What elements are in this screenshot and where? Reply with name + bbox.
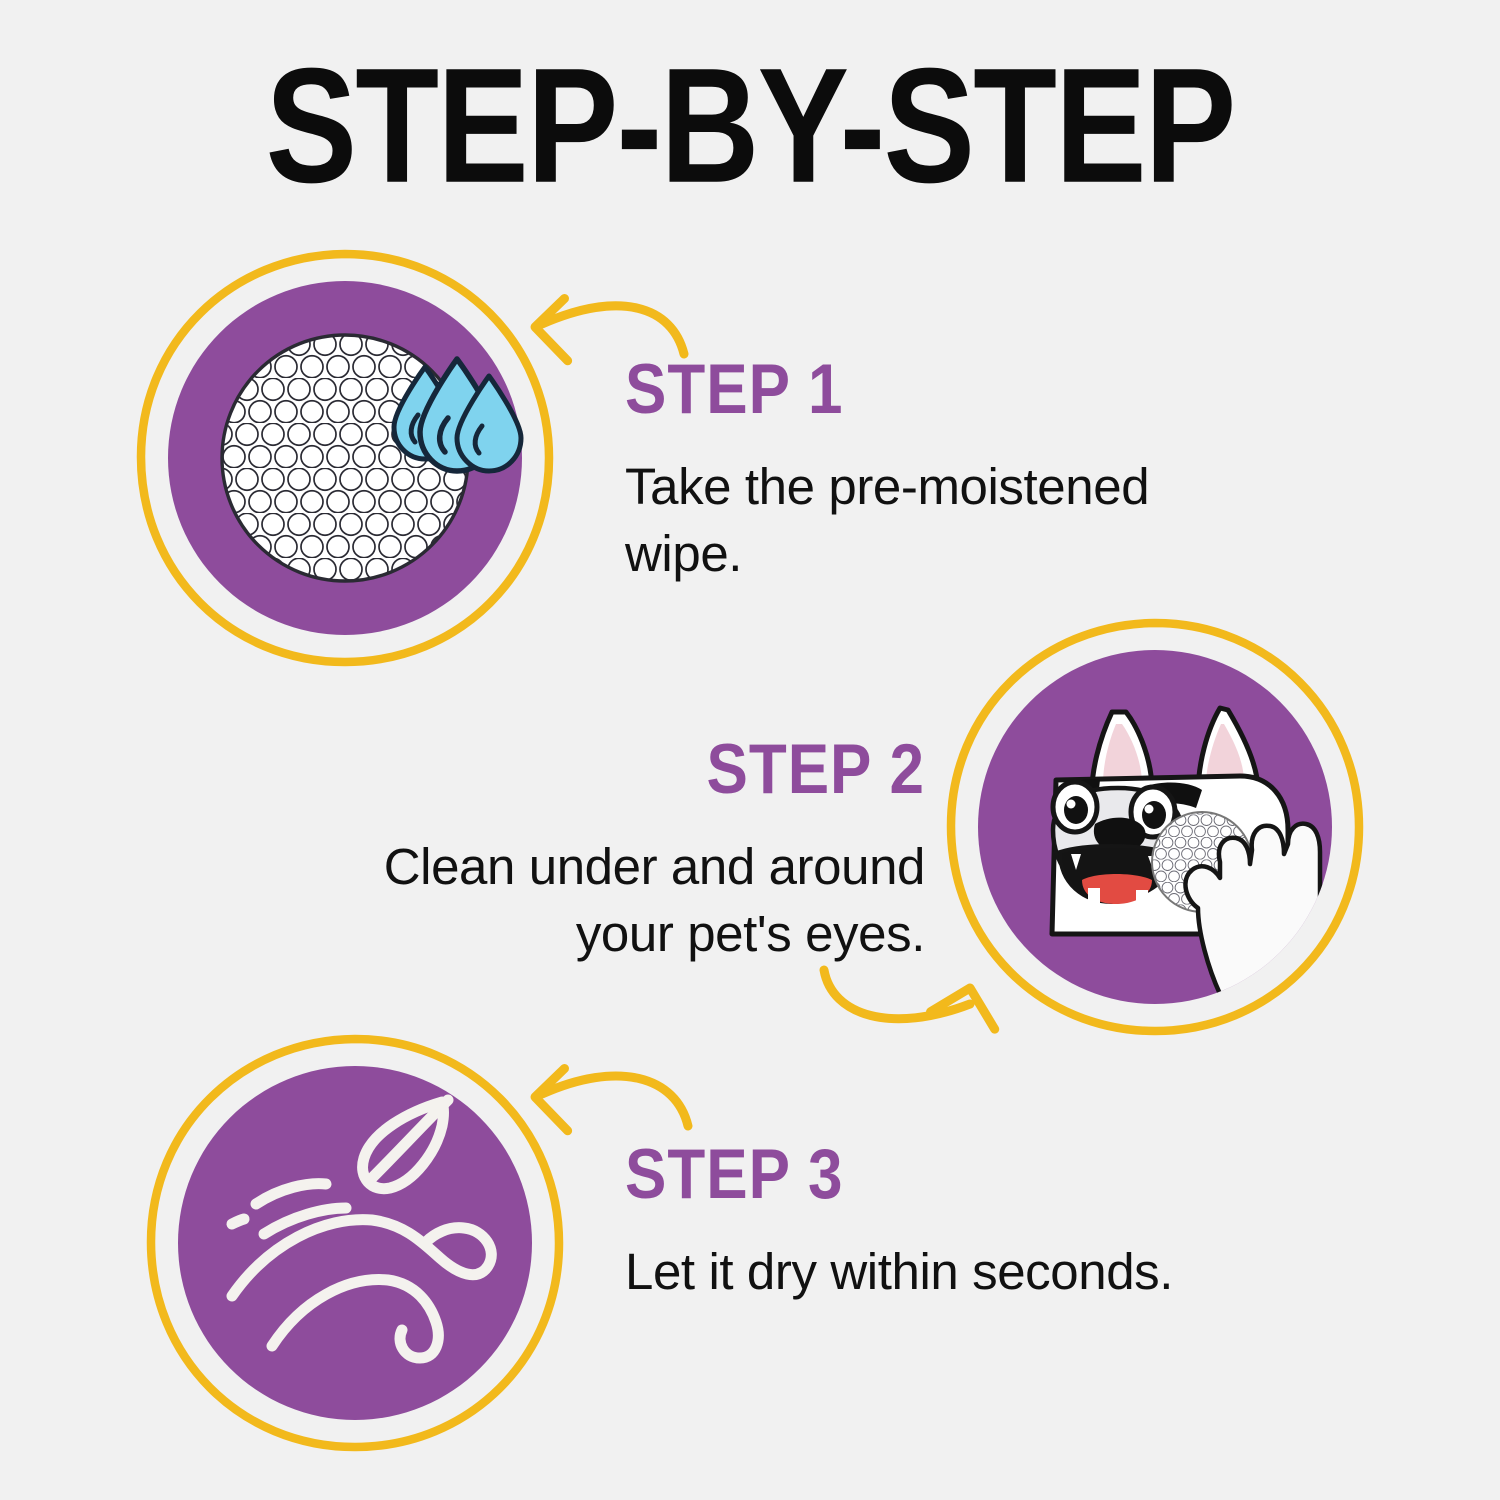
step-1-body: Take the pre-moistened wipe. bbox=[625, 453, 1170, 588]
step-3-icon-circle bbox=[140, 1028, 570, 1458]
arrow-to-step-3 bbox=[510, 1046, 700, 1141]
page-title: STEP-BY-STEP bbox=[45, 44, 1455, 208]
curved-arrow-left-icon bbox=[535, 1069, 688, 1131]
step-2-icon-circle bbox=[940, 612, 1370, 1042]
step-3-heading: STEP 3 bbox=[625, 1140, 1265, 1211]
curved-arrow-right-icon bbox=[824, 970, 995, 1053]
step-2-body: Clean under and around your pet's eyes. bbox=[340, 833, 925, 968]
step-2-text-block: STEP 2 Clean under and around your pet's… bbox=[340, 735, 925, 968]
step-3-body: Let it dry within seconds. bbox=[625, 1238, 1265, 1305]
purple-disc bbox=[178, 1066, 532, 1420]
step-3-text-block: STEP 3 Let it dry within seconds. bbox=[625, 1140, 1265, 1305]
step-1-text-block: STEP 1 Take the pre-moistened wipe. bbox=[625, 355, 1225, 588]
infographic-canvas: STEP-BY-STEP bbox=[0, 0, 1500, 1500]
arrow-to-step-2 bbox=[812, 958, 1002, 1058]
step-1-heading: STEP 1 bbox=[625, 355, 1225, 426]
step-1-icon-circle bbox=[130, 243, 560, 673]
step-2-heading: STEP 2 bbox=[340, 735, 925, 806]
